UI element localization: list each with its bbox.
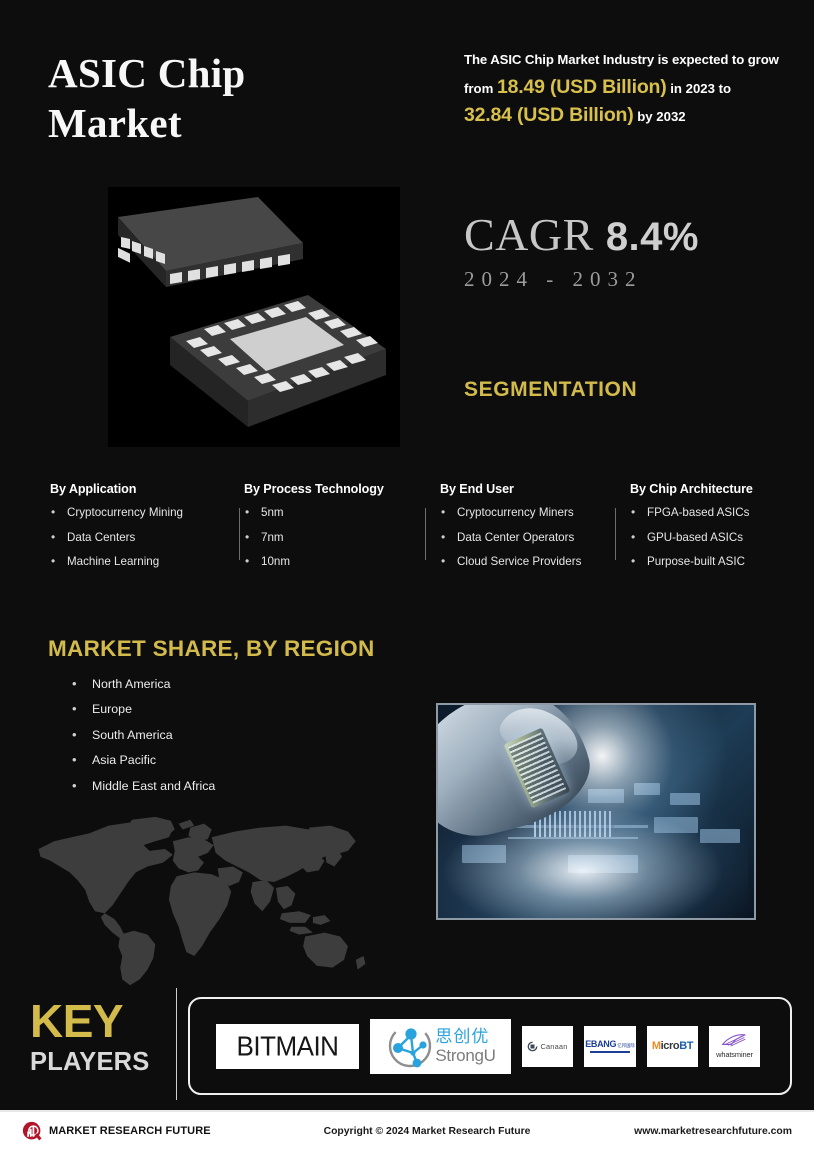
bullet-icon: • <box>245 555 249 567</box>
list-item-label: Cryptocurrency Mining <box>67 506 183 519</box>
hexagon-ring-icon <box>527 1041 538 1052</box>
chip-photo <box>108 187 400 447</box>
growth-line-3: 32.84 (USD Billion) by 2032 <box>464 106 784 126</box>
logo-microbt: MicroBT <box>647 1026 698 1067</box>
list-item-label: 5nm <box>261 506 284 519</box>
logo-bitmain: BITMAIN <box>216 1024 359 1069</box>
circuit-board-photo <box>436 703 756 920</box>
list-item: •GPU-based ASICs <box>630 532 762 544</box>
bullet-icon: • <box>441 531 445 543</box>
cagr-value: 8.4% <box>606 215 699 259</box>
growth-end-label: by 2032 <box>637 109 685 124</box>
list-item: •Data Center Operators <box>440 532 606 544</box>
segmentation-column-title: By End User <box>440 482 606 496</box>
logo-canaan: Canaan <box>522 1026 573 1067</box>
growth-to-value: 32.84 (USD Billion) <box>464 104 634 126</box>
list-item-label: South America <box>92 728 173 742</box>
list-item: •North America <box>72 678 215 690</box>
bullet-icon: • <box>51 506 55 518</box>
list-item: •South America <box>72 729 215 741</box>
page-title-line1: ASIC Chip <box>48 48 388 98</box>
logo-strongu: 思创优 StrongU <box>370 1019 511 1074</box>
key-players-label: KEY PLAYERS <box>30 1000 150 1077</box>
logo-whatsminer-text: whatsminer <box>716 1050 753 1059</box>
logo-ebang-text: EBANG <box>585 1039 616 1049</box>
growth-from-value: 18.49 (USD Billion) <box>497 76 667 98</box>
bullet-icon: • <box>631 531 635 543</box>
logo-canaan-text: Canaan <box>540 1042 567 1051</box>
list-item-label: 7nm <box>261 531 284 544</box>
segmentation-column-list: •Cryptocurrency Miners •Data Center Oper… <box>440 507 606 568</box>
logo-canaan-wrap: Canaan <box>527 1041 567 1052</box>
logo-microbt-text: MicroBT <box>652 1040 693 1052</box>
network-nodes-icon <box>387 1023 433 1069</box>
logo-ebang-row: EBANG 亿邦国际 <box>585 1039 635 1049</box>
cagr-label: CAGR <box>464 209 594 260</box>
bullet-icon: • <box>72 677 77 690</box>
bullet-icon: • <box>72 728 77 741</box>
key-players-line1: KEY <box>30 1000 150 1044</box>
key-players-line2: PLAYERS <box>30 1048 150 1077</box>
growth-mid-label: in 2023 to <box>670 81 731 96</box>
list-item: •Data Centers <box>50 532 230 544</box>
wing-icon <box>721 1033 747 1048</box>
logo-bitmain-text: BITMAIN <box>237 1029 339 1062</box>
infographic-page: ASIC Chip Market The ASIC Chip Market In… <box>0 0 814 1150</box>
segmentation-column-list: •FPGA-based ASICs •GPU-based ASICs •Purp… <box>630 507 762 568</box>
page-title: ASIC Chip Market <box>48 48 388 149</box>
segmentation-column-chip-architecture: By Chip Architecture •FPGA-based ASICs •… <box>616 482 772 581</box>
logo-whatsminer: whatsminer <box>709 1026 760 1067</box>
cagr-period: 2024 - 2032 <box>464 267 699 292</box>
logo-ebang: EBANG 亿邦国际 <box>584 1026 636 1067</box>
footer-brand: MARKET RESEARCH FUTURE <box>22 1121 322 1142</box>
footer-website[interactable]: www.marketresearchfuture.com <box>532 1126 792 1137</box>
growth-line-1: The ASIC Chip Market Industry is expecte… <box>464 52 784 69</box>
list-item-label: GPU-based ASICs <box>647 531 743 544</box>
list-item: •10nm <box>244 556 416 568</box>
list-item: •Purpose-built ASIC <box>630 556 762 568</box>
page-title-line2: Market <box>48 98 388 148</box>
list-item-label: FPGA-based ASICs <box>647 506 749 519</box>
list-item-label: Purpose-built ASIC <box>647 555 745 568</box>
growth-statement: The ASIC Chip Market Industry is expecte… <box>464 52 784 126</box>
logo-strongu-latin: StrongU <box>435 1047 495 1064</box>
cagr-block: CAGR 8.4% 2024 - 2032 <box>464 212 699 292</box>
market-share-region-list: •North America •Europe •South America •A… <box>72 678 215 805</box>
list-item-label: Machine Learning <box>67 555 159 568</box>
list-item-label: Data Centers <box>67 531 135 544</box>
segmentation-column-application: By Application •Cryptocurrency Mining •D… <box>50 482 240 581</box>
growth-from-label: from <box>464 81 493 96</box>
bullet-icon: • <box>631 555 635 567</box>
logo-ebang-chinese: 亿邦国际 <box>617 1043 635 1049</box>
growth-line-2: from 18.49 (USD Billion) in 2023 to <box>464 78 784 98</box>
logo-microbt-icro: icro <box>661 1040 680 1052</box>
list-item-label: North America <box>92 677 171 691</box>
logo-strongu-wrap: 思创优 StrongU <box>385 1023 495 1069</box>
world-map-svg <box>26 812 378 992</box>
world-map <box>26 812 378 992</box>
logo-whatsminer-wrap: whatsminer <box>716 1033 753 1059</box>
list-item-label: Asia Pacific <box>92 753 156 767</box>
segmentation-column-list: •5nm •7nm •10nm <box>244 507 416 568</box>
list-item: •7nm <box>244 532 416 544</box>
bullet-icon: • <box>245 531 249 543</box>
market-research-future-logo-icon <box>22 1121 43 1142</box>
segmentation-grid: By Application •Cryptocurrency Mining •D… <box>50 482 772 581</box>
segmentation-column-title: By Chip Architecture <box>630 482 762 496</box>
footer-brand-name: MARKET RESEARCH FUTURE <box>49 1125 211 1137</box>
footer: MARKET RESEARCH FUTURE Copyright © 2024 … <box>0 1112 814 1150</box>
segmentation-column-end-user: By End User •Cryptocurrency Miners •Data… <box>426 482 616 581</box>
segmentation-column-list: •Cryptocurrency Mining •Data Centers •Ma… <box>50 507 230 568</box>
list-item: •Europe <box>72 703 215 715</box>
list-item: •5nm <box>244 507 416 519</box>
list-item: •Machine Learning <box>50 556 230 568</box>
list-item-label: Europe <box>92 702 132 716</box>
list-item: •Cloud Service Providers <box>440 556 606 568</box>
list-item-label: Cryptocurrency Miners <box>457 506 574 519</box>
bullet-icon: • <box>245 506 249 518</box>
bullet-icon: • <box>631 506 635 518</box>
chip-illustration-svg <box>108 187 400 447</box>
list-item: •Middle East and Africa <box>72 780 215 792</box>
bullet-icon: • <box>72 753 77 766</box>
logo-ebang-underline <box>590 1051 630 1053</box>
logo-ebang-wrap: EBANG 亿邦国际 <box>585 1039 635 1053</box>
segmentation-heading: SEGMENTATION <box>464 378 637 402</box>
key-players-logo-box: BITMAIN 思创优 St <box>188 997 792 1095</box>
key-players-divider <box>176 988 177 1100</box>
list-item-label: Cloud Service Providers <box>457 555 581 568</box>
segmentation-column-title: By Process Technology <box>244 482 416 496</box>
market-share-heading: MARKET SHARE, BY REGION <box>48 636 375 662</box>
list-item: •Asia Pacific <box>72 754 215 766</box>
bullet-icon: • <box>51 531 55 543</box>
bullet-icon: • <box>51 555 55 567</box>
segmentation-column-process-technology: By Process Technology •5nm •7nm •10nm <box>240 482 426 581</box>
list-item: •FPGA-based ASICs <box>630 507 762 519</box>
logo-strongu-text: 思创优 StrongU <box>435 1029 495 1064</box>
bullet-icon: • <box>72 702 77 715</box>
list-item-label: 10nm <box>261 555 290 568</box>
logo-microbt-bt: BT <box>679 1040 693 1052</box>
footer-copyright: Copyright © 2024 Market Research Future <box>322 1126 532 1137</box>
list-item-label: Data Center Operators <box>457 531 574 544</box>
segmentation-column-title: By Application <box>50 482 230 496</box>
bullet-icon: • <box>441 555 445 567</box>
list-item-label: Middle East and Africa <box>92 779 215 793</box>
logo-strongu-chinese: 思创优 <box>435 1029 495 1046</box>
bullet-icon: • <box>72 779 77 792</box>
bullet-icon: • <box>441 506 445 518</box>
logo-microbt-m: M <box>652 1040 661 1052</box>
list-item: •Cryptocurrency Mining <box>50 507 230 519</box>
list-item: •Cryptocurrency Miners <box>440 507 606 519</box>
